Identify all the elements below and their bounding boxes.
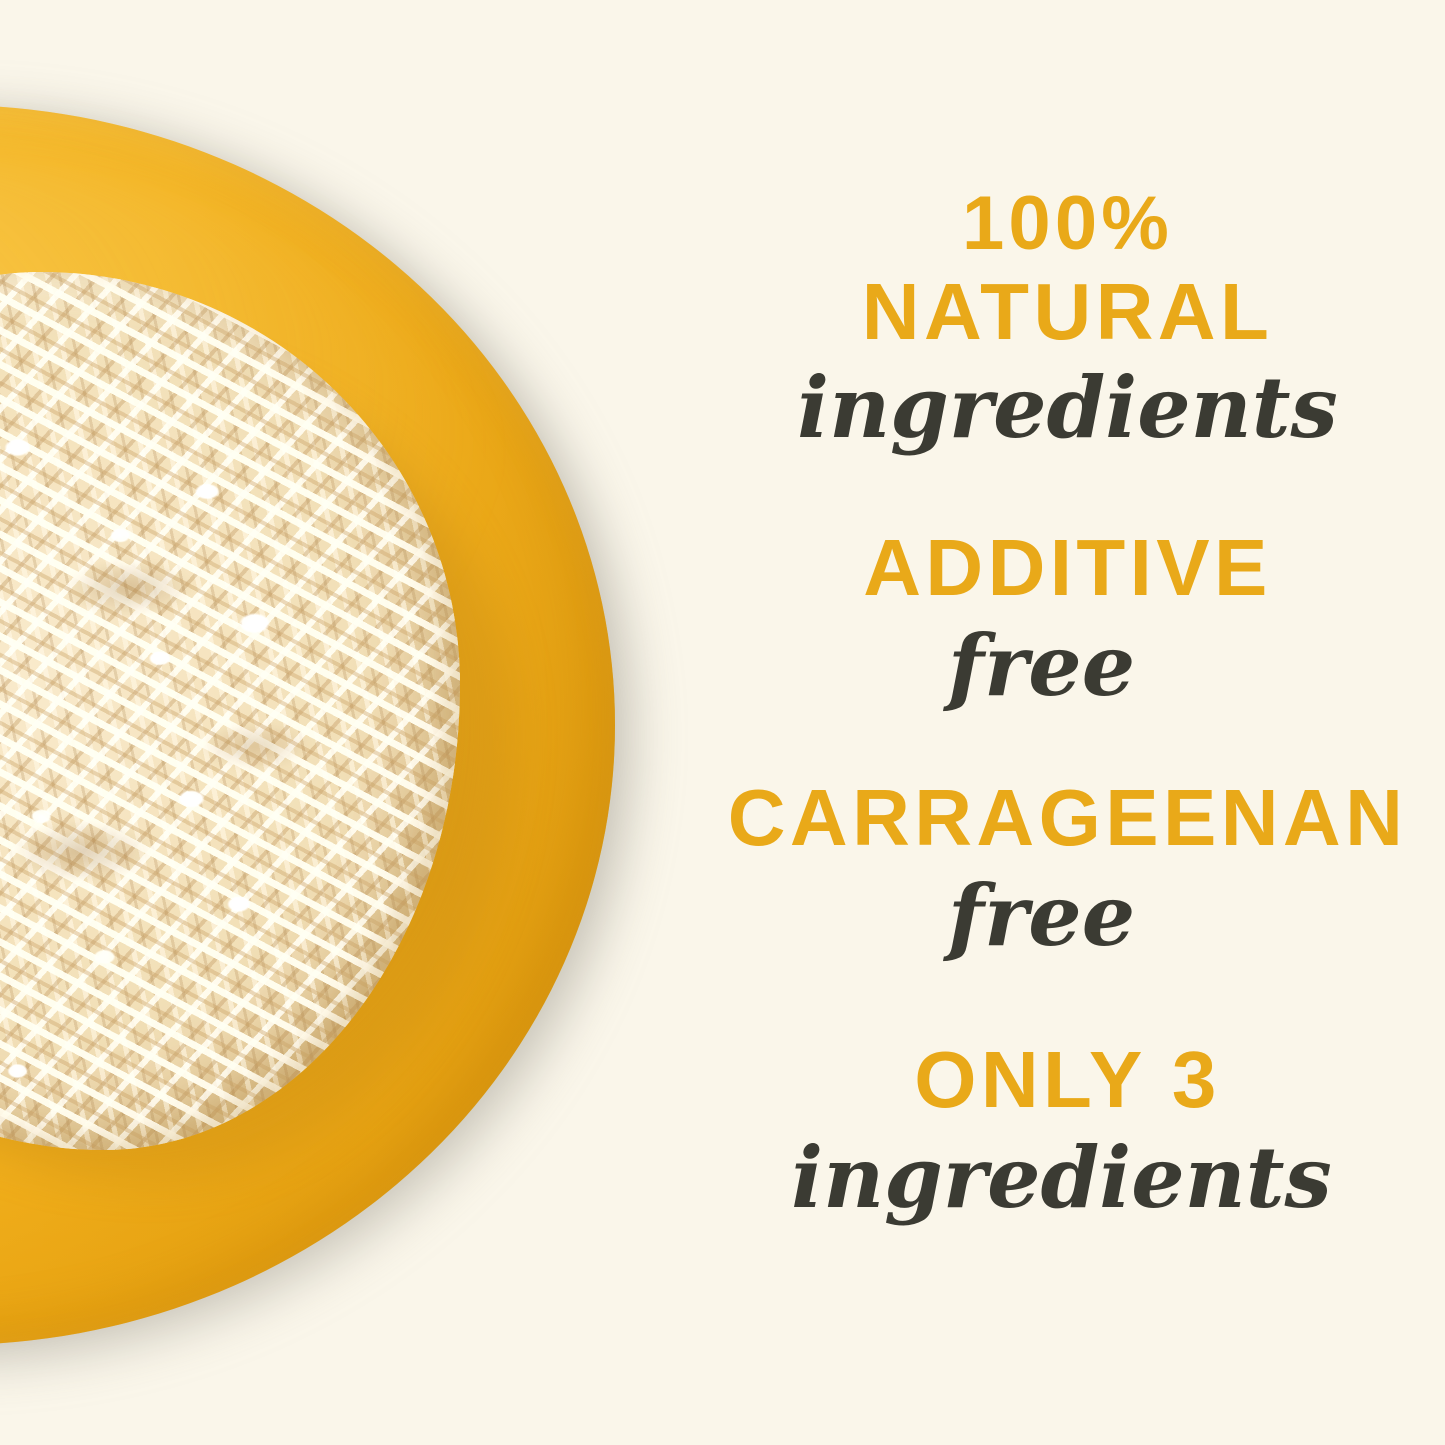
claim-additive-free: ADDITIVE free <box>690 528 1445 708</box>
claim-carrageenan-headline: CARRAGEENAN <box>690 778 1445 858</box>
shredded-chicken-and-rice-mound <box>0 272 460 1150</box>
claim-additive-script: free <box>664 624 1419 708</box>
claim-natural-percent: 100% <box>690 186 1445 262</box>
claim-natural-ingredients: 100% NATURAL ingredients <box>690 186 1445 450</box>
claim-carrageenan-free: CARRAGEENAN free <box>690 778 1445 958</box>
claim-only3-script: ingredients <box>684 1136 1439 1220</box>
claim-only-3-ingredients: ONLY 3 ingredients <box>690 1040 1445 1220</box>
product-claim-graphic: 100% NATURAL ingredients ADDITIVE free C… <box>0 0 1445 1445</box>
claim-additive-headline: ADDITIVE <box>690 528 1445 608</box>
product-photo <box>0 0 740 1445</box>
claim-only3-headline: ONLY 3 <box>690 1040 1445 1120</box>
claim-natural-headline: NATURAL <box>690 272 1445 352</box>
claim-natural-script: ingredients <box>690 366 1445 450</box>
claims-column: 100% NATURAL ingredients ADDITIVE free C… <box>690 0 1445 1445</box>
rice-grains-layer <box>0 272 460 1150</box>
claim-carrageenan-script: free <box>664 874 1419 958</box>
